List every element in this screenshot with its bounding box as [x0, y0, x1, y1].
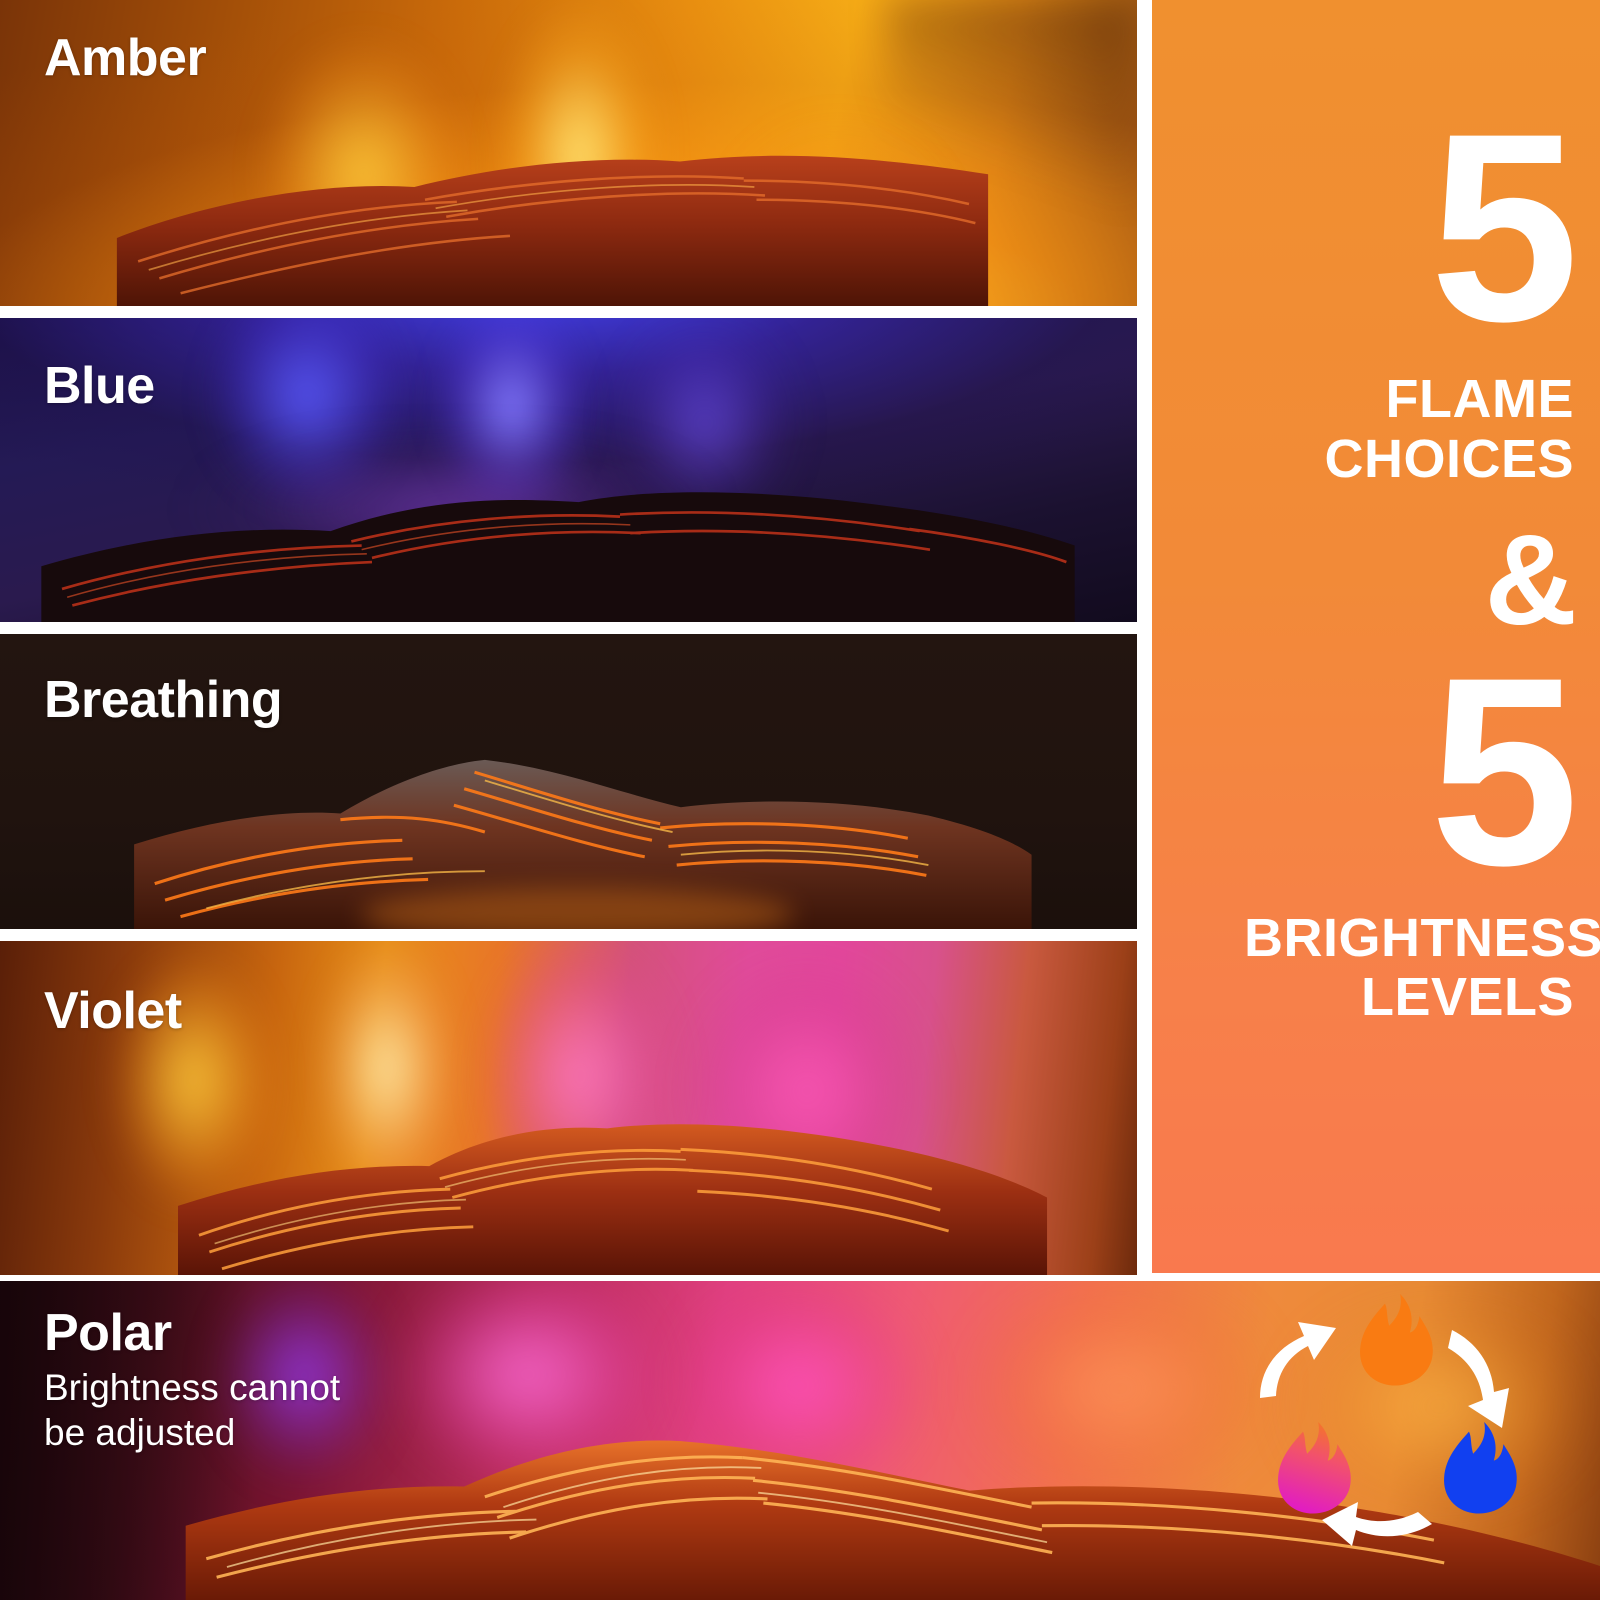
arrow-curved-down-right-icon [1448, 1330, 1509, 1428]
brightness-caption: BRIGHTNESS LEVELS [1244, 909, 1574, 1028]
ember-logs-violet [0, 1097, 1137, 1275]
panel-label-violet: Violet [44, 981, 182, 1041]
brightness-caption-line-2: LEVELS [1244, 968, 1574, 1027]
flame-icon-blue[interactable] [1444, 1422, 1517, 1514]
flame-preview-blue[interactable]: Blue [0, 318, 1137, 622]
flame-caption: FLAME CHOICES [1244, 370, 1574, 489]
arrow-curved-up-right-icon [1260, 1322, 1336, 1398]
brightness-count-number: 5 [1244, 656, 1574, 886]
stat-panel: 5 FLAME CHOICES & 5 BRIGHTNESS LEVELS [1152, 0, 1600, 1273]
stat-panel-content: 5 FLAME CHOICES & 5 BRIGHTNESS LEVELS [1244, 0, 1574, 1028]
flame-preview-breathing[interactable]: Breathing [0, 634, 1137, 929]
flame-count-number: 5 [1244, 112, 1574, 342]
arrow-curved-left-icon [1322, 1502, 1432, 1546]
flame-cycle-svg [1244, 1286, 1554, 1576]
flame-icon-magenta[interactable] [1278, 1422, 1351, 1514]
flame-caption-line-2: CHOICES [1244, 430, 1574, 489]
flame-cycle-diagram [1244, 1286, 1554, 1576]
panel-sublabel-polar: Brightness cannot be adjusted [44, 1365, 464, 1455]
panel-label-polar: Polar [44, 1303, 172, 1363]
flame-icon-orange[interactable] [1360, 1294, 1433, 1386]
panel-label-blue: Blue [44, 356, 155, 416]
product-feature-graphic: Amber Blue [0, 0, 1600, 1600]
panel-label-amber: Amber [44, 28, 206, 88]
brightness-caption-line-1: BRIGHTNESS [1244, 909, 1574, 968]
flame-caption-line-1: FLAME [1244, 370, 1574, 429]
flame-preview-violet[interactable]: Violet [0, 941, 1137, 1275]
ember-logs-amber [0, 136, 1137, 306]
panel-label-breathing: Breathing [44, 670, 282, 730]
ember-logs-blue [0, 467, 1137, 622]
flame-preview-amber[interactable]: Amber [0, 0, 1137, 306]
ember-logs-breathing [0, 733, 1137, 929]
